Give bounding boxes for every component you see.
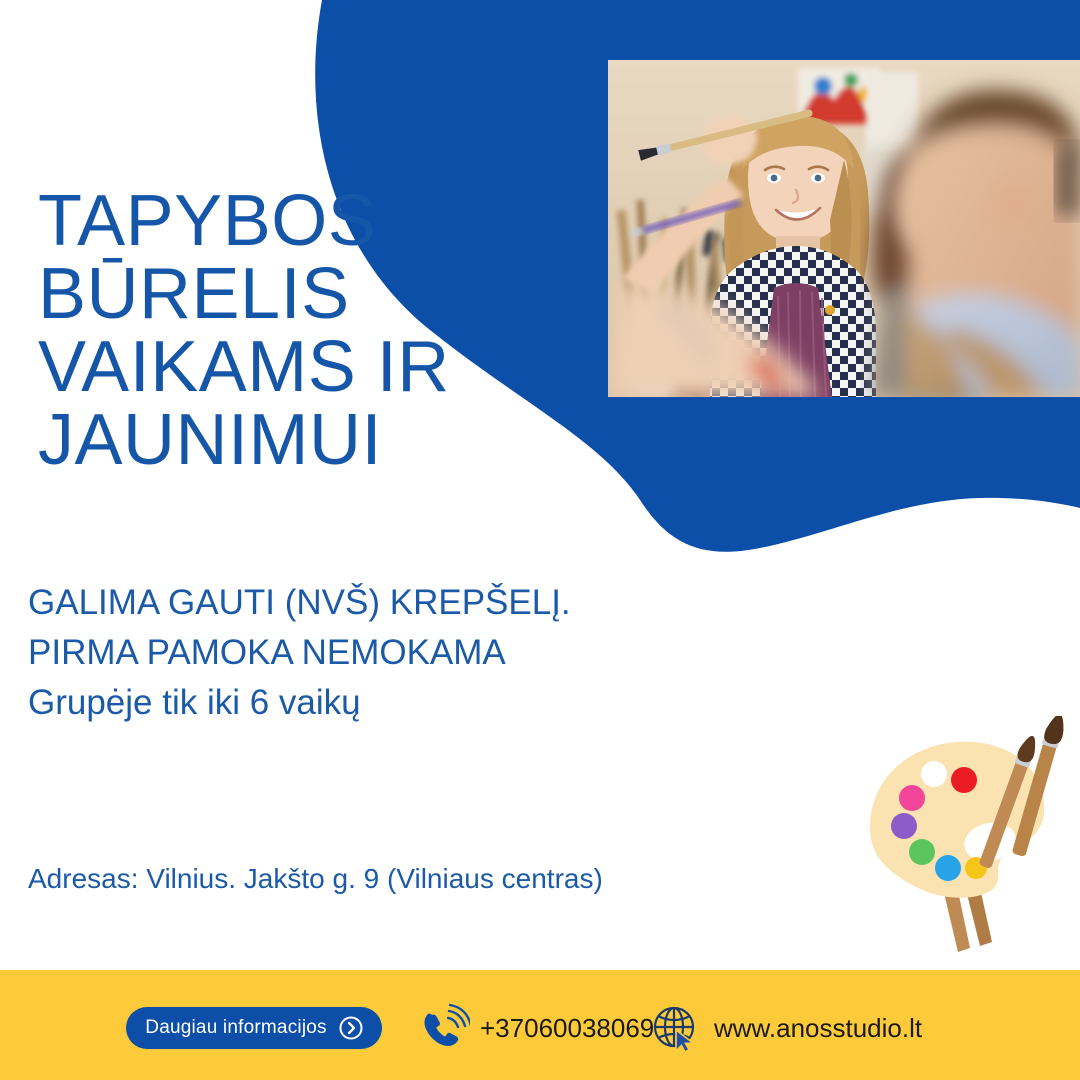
headline-line-3: VAIKAMS IR (38, 331, 598, 404)
more-info-button[interactable]: Daugiau informacijos (126, 1007, 382, 1049)
phone-number-text: +37060038069 (480, 1013, 654, 1044)
more-info-button-label: Daugiau informacijos (145, 1017, 326, 1039)
phone-ringing-icon (418, 1002, 470, 1054)
headline-line-1: TAPYBOS (38, 185, 598, 258)
subtitle-block: GALIMA GAUTI (NVŠ) KREPŠELĮ. PIRMA PAMOK… (28, 578, 728, 728)
page-title: TAPYBOS BŪRELIS VAIKAMS IR JAUNIMUI (38, 185, 598, 477)
paint-dot-pink (899, 785, 925, 811)
hero-photo (608, 60, 1080, 397)
website-url-text: www.anosstudio.lt (714, 1013, 922, 1044)
address-text: Adresas: Vilnius. Jakšto g. 9 (Vilniaus … (28, 862, 603, 896)
photo-children-painting (608, 60, 1080, 397)
paint-dot-green (909, 839, 935, 865)
paint-dot-white (921, 761, 947, 787)
chevron-right-circle-icon (339, 1016, 363, 1040)
paint-dot-blue (935, 855, 961, 881)
subtitle-line-free-lesson: PIRMA PAMOKA NEMOKAMA (28, 628, 728, 678)
headline-line-4: JAUNIMUI (38, 404, 598, 477)
headline-line-2: BŪRELIS (38, 258, 598, 331)
phone-contact[interactable]: +37060038069 (418, 1000, 654, 1056)
paint-palette-with-brushes-icon (862, 716, 1080, 952)
paint-dot-purple (891, 813, 917, 839)
website-contact[interactable]: www.anosstudio.lt (650, 1000, 922, 1056)
globe-cursor-icon (650, 1003, 700, 1053)
paint-dot-red (951, 767, 977, 793)
footer-bar: Daugiau informacijos (0, 970, 1080, 1080)
poster-canvas: TAPYBOS BŪRELIS VAIKAMS IR JAUNIMUI GALI… (0, 0, 1080, 1080)
subtitle-line-voucher: GALIMA GAUTI (NVŠ) KREPŠELĮ. (28, 578, 728, 628)
subtitle-line-group-size: Grupėje tik iki 6 vaikų (28, 678, 728, 728)
